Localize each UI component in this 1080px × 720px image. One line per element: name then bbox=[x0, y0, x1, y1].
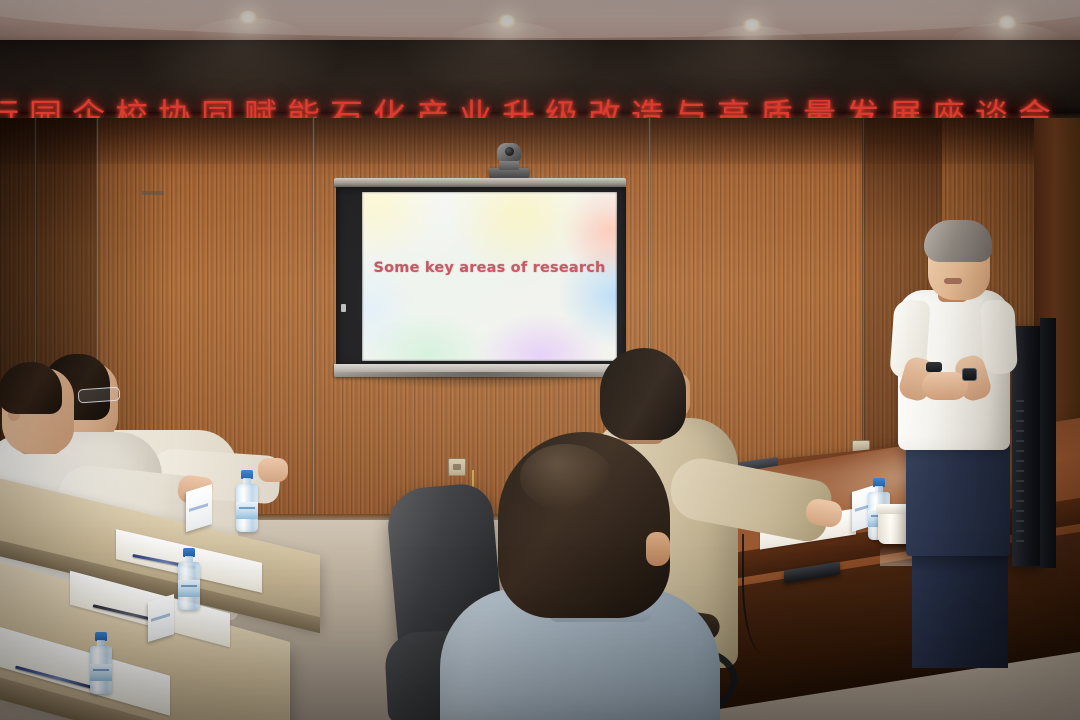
presenter-mouth bbox=[944, 278, 962, 284]
ptz-camera-lens-icon bbox=[505, 147, 514, 156]
presenter-trousers bbox=[906, 436, 1010, 556]
foreground-hair-highlight bbox=[520, 444, 612, 510]
display-brand-logo bbox=[142, 191, 164, 195]
name-card-left-far bbox=[186, 488, 232, 528]
name-card-left-mid bbox=[148, 598, 194, 638]
khaki-head bbox=[600, 348, 686, 440]
presenter-right-sleeve bbox=[980, 299, 1018, 375]
water-bottle-left-near bbox=[90, 632, 112, 694]
bottle-label bbox=[236, 502, 258, 519]
display-drop-shadow bbox=[330, 372, 630, 388]
display-bezel: Some key areas of research bbox=[336, 187, 626, 367]
screen-glare bbox=[362, 192, 617, 361]
man-hair bbox=[0, 362, 62, 414]
interactive-display[interactable]: Some key areas of research bbox=[334, 178, 626, 378]
wristwatch bbox=[962, 368, 977, 381]
foreground-ear bbox=[646, 532, 670, 566]
presenter-hair bbox=[924, 220, 992, 262]
slide-title-text: Some key areas of research bbox=[362, 260, 617, 276]
rack-vent-holes bbox=[1016, 400, 1024, 550]
presenter-legs bbox=[912, 548, 1008, 668]
rack-side-column bbox=[1040, 318, 1056, 568]
presentation-screen: Some key areas of research bbox=[362, 192, 617, 361]
banner-wall: 行园企校协同赋能石化产业升级改造与高质量发展座谈会 bbox=[0, 40, 1080, 118]
presentation-clicker[interactable] bbox=[926, 362, 942, 372]
woman-hand bbox=[258, 458, 288, 482]
display-side-button[interactable] bbox=[341, 304, 346, 312]
conference-room-photo: 行园企校协同赋能石化产业升级改造与高质量发展座谈会 Some key area bbox=[0, 0, 1080, 720]
glasses-icon bbox=[78, 387, 121, 404]
bottle-label bbox=[178, 580, 200, 597]
banner-title: 行园企校协同赋能石化产业升级改造与高质量发展座谈会 bbox=[0, 90, 996, 118]
bottle-label bbox=[90, 664, 112, 681]
water-bottle-left-far bbox=[236, 470, 258, 532]
